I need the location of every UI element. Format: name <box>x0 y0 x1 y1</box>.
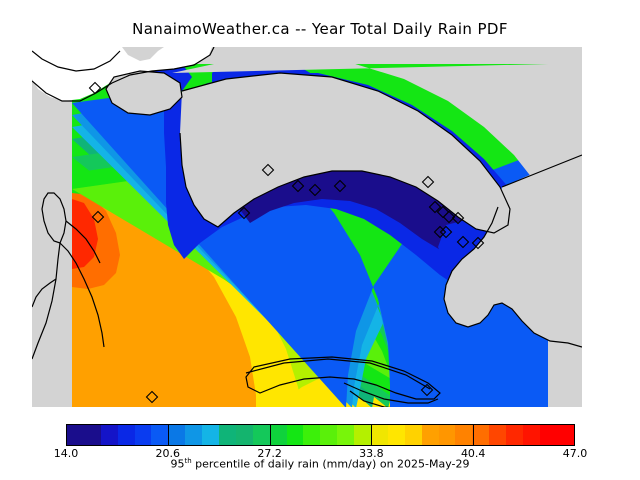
colorbar-swatch-12 <box>270 425 287 445</box>
colorbar-swatch-16 <box>337 425 354 445</box>
colorbar-swatch-28 <box>540 425 557 445</box>
colorbar-swatch-25 <box>489 425 506 445</box>
colorbar-swatch-4 <box>135 425 152 445</box>
colorbar-swatch-23 <box>455 425 472 445</box>
colorbar-swatch-1 <box>84 425 101 445</box>
colorbar-swatch-20 <box>405 425 422 445</box>
caption-percentile-number: 95 <box>170 458 184 471</box>
colorbar-swatch-0 <box>67 425 84 445</box>
colorbar-swatch-29 <box>557 425 574 445</box>
colorbar-swatch-6 <box>168 425 185 445</box>
colorbar-swatch-15 <box>320 425 337 445</box>
colorbar-swatch-27 <box>523 425 540 445</box>
map-svg <box>32 47 582 407</box>
colorbar-caption: 95th percentile of daily rain (mm/day) o… <box>0 457 640 471</box>
colorbar-swatch-17 <box>354 425 371 445</box>
colorbar-swatch-5 <box>151 425 168 445</box>
colorbar-swatch-18 <box>371 425 388 445</box>
colorbar-swatch-21 <box>422 425 439 445</box>
caption-ordinal-suffix: th <box>184 457 191 465</box>
caption-rest: percentile of daily rain (mm/day) on 202… <box>192 458 470 471</box>
weather-map-page: NanaimoWeather.ca -- Year Total Daily Ra… <box>0 0 640 480</box>
colorbar-swatch-22 <box>439 425 456 445</box>
page-title: NanaimoWeather.ca -- Year Total Daily Ra… <box>0 20 640 38</box>
colorbar-swatch-24 <box>472 425 489 445</box>
colorbar-swatch-11 <box>253 425 270 445</box>
colorbar-swatch-9 <box>219 425 236 445</box>
colorbar-swatch-7 <box>185 425 202 445</box>
colorbar-swatches[interactable] <box>66 424 575 446</box>
colorbar-swatch-19 <box>388 425 405 445</box>
colorbar-swatch-13 <box>287 425 304 445</box>
rainfall-contour-map[interactable] <box>32 47 582 407</box>
colorbar-swatch-10 <box>236 425 253 445</box>
colorbar-swatch-26 <box>506 425 523 445</box>
colorbar-swatch-14 <box>303 425 320 445</box>
colorbar[interactable]: 14.020.627.233.840.447.0 <box>66 424 575 446</box>
colorbar-swatch-2 <box>101 425 118 445</box>
colorbar-swatch-8 <box>202 425 219 445</box>
colorbar-swatch-3 <box>118 425 135 445</box>
